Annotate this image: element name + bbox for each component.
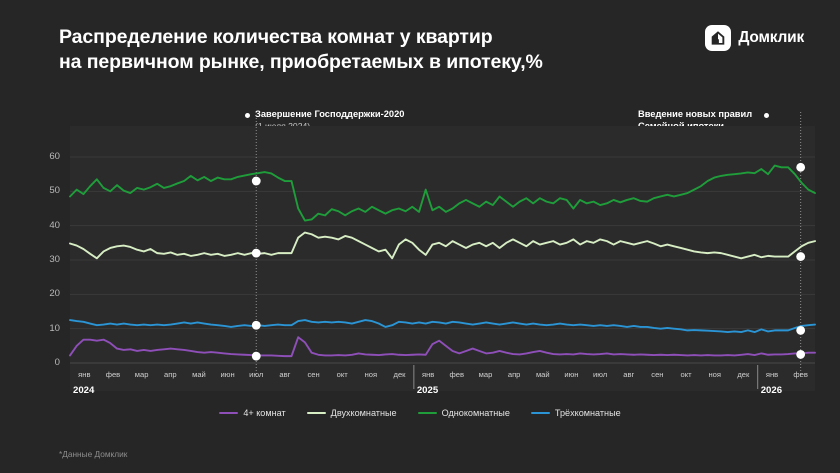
year-label: 2026: [761, 385, 782, 396]
legend-swatch-icon: [418, 412, 437, 414]
legend-label: 4+ комнат: [243, 408, 285, 418]
legend-item-2[interactable]: Однокомнатные: [418, 408, 510, 418]
data-marker-4+ комнат: [252, 352, 261, 361]
x-axis-tick: май: [528, 370, 558, 379]
x-axis-tick: фев: [786, 370, 816, 379]
data-marker-Однокомнатные: [252, 177, 261, 186]
data-marker-Двухкомнатные: [796, 252, 805, 261]
legend-swatch-icon: [307, 412, 326, 414]
series-line-4+ комнат: [70, 337, 815, 356]
x-axis-tick: июн: [213, 370, 243, 379]
x-axis-tick: июн: [556, 370, 586, 379]
x-axis-tick: ноя: [356, 370, 386, 379]
x-axis-tick: сен: [299, 370, 329, 379]
legend-label: Двухкомнатные: [331, 408, 397, 418]
legend-item-3[interactable]: Трёхкомнатные: [531, 408, 621, 418]
x-axis-tick: янв: [413, 370, 443, 379]
legend-item-0[interactable]: 4+ комнат: [219, 408, 285, 418]
x-axis-tick: фев: [98, 370, 128, 379]
data-marker-Однокомнатные: [796, 163, 805, 172]
year-label: 2024: [73, 385, 94, 396]
y-axis-tick: 30: [34, 254, 60, 265]
y-axis-tick: 20: [34, 288, 60, 299]
y-axis-tick: 50: [34, 185, 60, 196]
series-line-Трёхкомнатные: [70, 320, 815, 332]
data-marker-4+ комнат: [796, 350, 805, 359]
x-axis-tick: июл: [585, 370, 615, 379]
x-axis-tick: дек: [385, 370, 415, 379]
series-line-Однокомнатные: [70, 166, 815, 221]
x-axis-tick: мар: [127, 370, 157, 379]
legend-item-1[interactable]: Двухкомнатные: [307, 408, 397, 418]
y-axis-tick: 0: [34, 357, 60, 368]
x-axis-tick: фев: [442, 370, 472, 379]
legend-swatch-icon: [219, 412, 238, 414]
data-marker-Трёхкомнатные: [252, 321, 261, 330]
x-axis-tick: ноя: [700, 370, 730, 379]
x-axis-tick: авг: [614, 370, 644, 379]
x-axis-tick: мар: [470, 370, 500, 379]
legend-label: Однокомнатные: [442, 408, 510, 418]
brand-name: Домклик: [738, 29, 804, 47]
x-axis-tick: дек: [728, 370, 758, 379]
footnote: *Данные Домклик: [59, 449, 127, 459]
y-axis-tick: 40: [34, 220, 60, 231]
x-axis-tick: окт: [327, 370, 357, 379]
house-logo-icon: [705, 25, 731, 51]
brand-logo: Домклик: [705, 25, 804, 51]
header: Распределение количества комнат у кварти…: [0, 0, 840, 96]
legend-label: Трёхкомнатные: [555, 408, 621, 418]
chart-legend: 4+ комнатДвухкомнатныеОднокомнатныеТрёхк…: [0, 408, 840, 418]
x-axis-tick: сен: [642, 370, 672, 379]
x-axis-tick: янв: [757, 370, 787, 379]
year-label: 2025: [417, 385, 438, 396]
y-axis-tick: 10: [34, 323, 60, 334]
x-axis-tick: май: [184, 370, 214, 379]
x-axis-tick: июл: [241, 370, 271, 379]
data-marker-Двухкомнатные: [252, 249, 261, 258]
x-axis-tick: окт: [671, 370, 701, 379]
x-axis-tick: янв: [69, 370, 99, 379]
x-axis-tick: апр: [499, 370, 529, 379]
data-marker-Трёхкомнатные: [796, 326, 805, 335]
legend-swatch-icon: [531, 412, 550, 414]
series-line-Двухкомнатные: [70, 233, 815, 259]
page-title: Распределение количества комнат у кварти…: [59, 25, 543, 75]
infographic-root: Распределение количества комнат у кварти…: [0, 0, 840, 473]
x-axis-tick: авг: [270, 370, 300, 379]
y-axis-tick: 60: [34, 151, 60, 162]
x-axis-tick: апр: [155, 370, 185, 379]
